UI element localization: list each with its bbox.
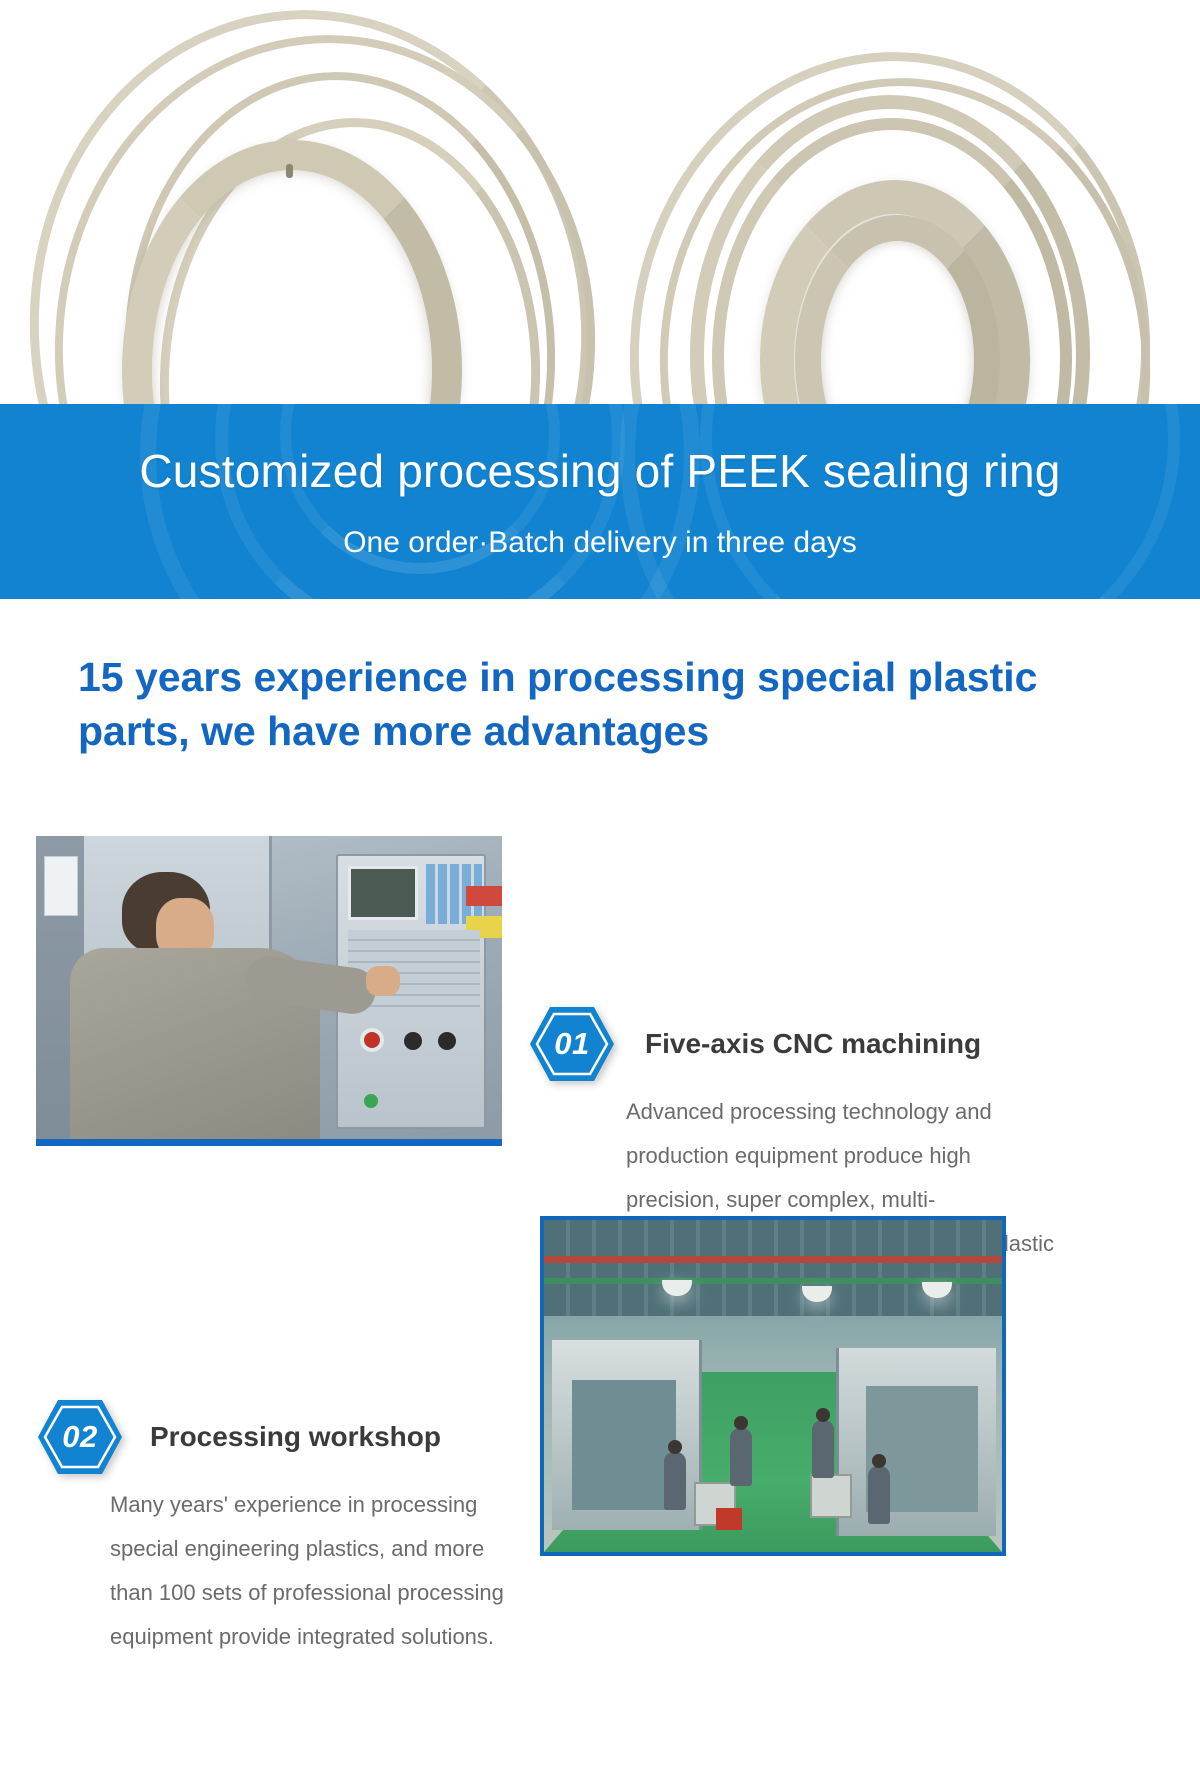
decorative-arc xyxy=(700,404,1180,599)
worker xyxy=(868,1466,890,1524)
red-bin xyxy=(716,1508,742,1530)
section-heading: 15 years experience in processing specia… xyxy=(78,650,1038,758)
cnc-screen xyxy=(348,866,418,920)
control-knob xyxy=(438,1032,456,1050)
worker xyxy=(812,1420,834,1478)
feature-image-workshop xyxy=(540,1216,1006,1556)
feature-title-01: Five-axis CNC machining xyxy=(645,1028,981,1060)
control-knob xyxy=(404,1032,422,1050)
material-cart xyxy=(810,1474,852,1518)
feature-body-02: Many years' experience in processing spe… xyxy=(110,1483,520,1659)
ceiling-pipe-red xyxy=(544,1256,1002,1263)
product-detail-page: Customized processing of PEEK sealing ri… xyxy=(0,0,1200,1773)
hero-product-photo xyxy=(0,0,1200,420)
warning-label-red xyxy=(466,886,502,906)
posted-document xyxy=(44,856,78,916)
banner-subtitle: One order·Batch delivery in three days xyxy=(0,526,1200,560)
workshop-ceiling xyxy=(544,1220,1002,1316)
worker-hand xyxy=(366,966,400,996)
worker xyxy=(730,1428,752,1486)
cnc-machine xyxy=(572,1380,676,1510)
feature-badge-01: 01 xyxy=(528,1005,616,1083)
feature-badge-02: 02 xyxy=(36,1398,124,1476)
banner-title: Customized processing of PEEK sealing ri… xyxy=(0,444,1200,498)
status-indicator xyxy=(364,1094,378,1108)
hero-banner: Customized processing of PEEK sealing ri… xyxy=(0,404,1200,599)
feature-badge-number: 02 xyxy=(36,1398,124,1476)
worker xyxy=(664,1452,686,1510)
feature-badge-number: 01 xyxy=(528,1005,616,1083)
feature-title-02: Processing workshop xyxy=(150,1421,441,1453)
feature-image-cnc xyxy=(36,836,502,1146)
emergency-stop-button xyxy=(360,1028,384,1052)
